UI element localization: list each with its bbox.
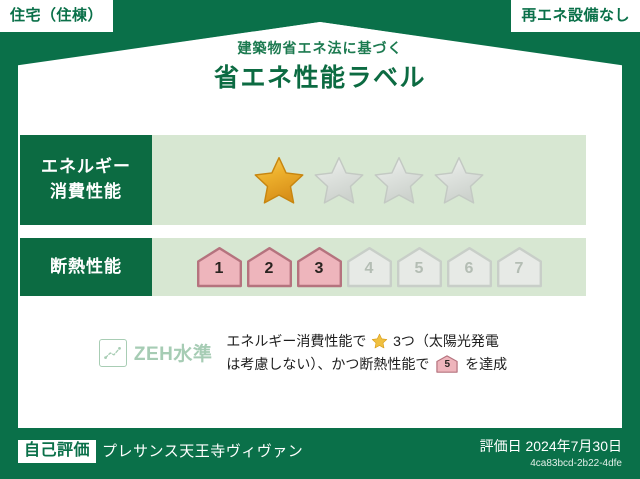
zeh-desc-l1-after: 3つ（太陽光発電 xyxy=(393,333,499,349)
row-insulation-performance: 断熱性能 1234567 xyxy=(20,238,586,296)
insulation-level-number: 7 xyxy=(496,261,543,277)
star-icon-empty xyxy=(313,155,365,205)
insulation-level-number: 4 xyxy=(346,261,393,277)
insulation-level-number: 5 xyxy=(396,261,443,277)
row-energy-label: エネルギー 消費性能 xyxy=(20,135,152,225)
zeh-badge: ZEH水準 xyxy=(99,339,213,367)
insulation-level-achieved: 2 xyxy=(246,246,293,288)
zeh-desc-l1-before: エネルギー消費性能で xyxy=(226,333,366,349)
insulation-level-number: 2 xyxy=(246,261,293,277)
insulation-level-number: 6 xyxy=(446,261,493,277)
zeh-label: ZEH水準 xyxy=(134,339,213,366)
title-block: 建築物省エネ法に基づく 省エネ性能ラベル xyxy=(0,40,640,93)
house-icon-inline-number: 5 xyxy=(436,360,458,370)
star-icon-empty xyxy=(373,155,425,205)
star-icon-filled xyxy=(253,155,305,205)
row-energy-body xyxy=(152,135,586,225)
zeh-desc-l2-after: を達成 xyxy=(465,356,507,372)
insulation-level-empty: 5 xyxy=(396,246,443,288)
row-energy-label-line2: 消費性能 xyxy=(50,180,122,205)
footer: 自己評価 プレサンス天王寺ヴィヴァン 評価日 2024年7月30日 4ca83b… xyxy=(0,428,640,479)
insulation-level-number: 3 xyxy=(296,261,343,277)
zeh-description-line1: エネルギー消費性能で 3つ（太陽光発電 xyxy=(226,330,507,353)
insulation-level-achieved: 1 xyxy=(196,246,243,288)
footer-left: 自己評価 プレサンス天王寺ヴィヴァン xyxy=(18,440,303,463)
row-energy-performance: エネルギー 消費性能 xyxy=(20,135,586,225)
zeh-desc-l2-before: は考慮しない）、かつ断熱性能で xyxy=(226,356,429,372)
evaluation-date: 評価日 2024年7月30日 xyxy=(480,438,622,456)
row-insulation-label: 断熱性能 xyxy=(20,238,152,296)
insulation-scale: 1234567 xyxy=(196,246,543,288)
insulation-level-empty: 6 xyxy=(446,246,493,288)
star-icon-empty xyxy=(433,155,485,205)
self-evaluation-badge: 自己評価 xyxy=(18,440,96,463)
insulation-level-empty: 4 xyxy=(346,246,393,288)
row-insulation-body: 1234567 xyxy=(152,238,586,296)
zeh-description-line2: は考慮しない）、かつ断熱性能で 5 を達成 xyxy=(226,353,507,376)
energy-performance-label: 住宅（住棟） 再エネ設備なし 建築物省エネ法に基づく 省エネ性能ラベル エネルギ… xyxy=(0,0,640,479)
star-rating xyxy=(253,155,485,205)
insulation-level-number: 1 xyxy=(196,261,243,277)
row-energy-label-line1: エネルギー xyxy=(41,155,131,180)
insulation-level-empty: 7 xyxy=(496,246,543,288)
tag-building-type: 住宅（住棟） xyxy=(0,0,113,32)
tag-renewable-energy: 再エネ設備なし xyxy=(511,0,640,32)
zeh-chart-icon xyxy=(99,339,127,367)
star-icon-inline xyxy=(371,333,388,349)
evaluation-id: 4ca83bcd-2b22-4dfe xyxy=(480,457,622,470)
title-subtitle: 建築物省エネ法に基づく xyxy=(0,40,640,57)
house-icon-inline: 5 xyxy=(436,355,458,373)
zeh-description: エネルギー消費性能で 3つ（太陽光発電 は考慮しない）、かつ断熱性能で 5 を達… xyxy=(226,330,507,375)
building-name: プレサンス天王寺ヴィヴァン xyxy=(102,444,303,459)
zeh-note: ZEH水準 エネルギー消費性能で 3つ（太陽光発電 は考慮しない）、かつ断熱性能… xyxy=(20,330,586,375)
insulation-level-achieved: 3 xyxy=(296,246,343,288)
footer-right: 評価日 2024年7月30日 4ca83bcd-2b22-4dfe xyxy=(480,438,622,470)
row-insulation-label-line1: 断熱性能 xyxy=(50,255,122,280)
page-title: 省エネ性能ラベル xyxy=(0,63,640,93)
